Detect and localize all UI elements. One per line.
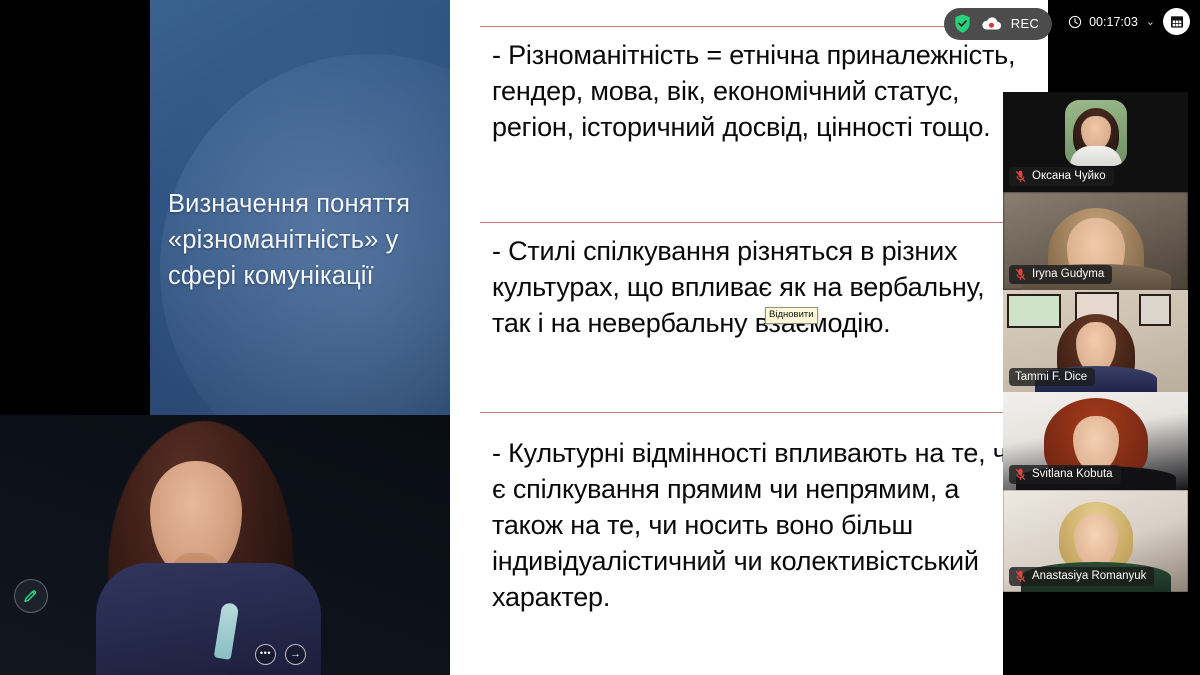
participant-name-badge: Tammi F. Dice [1009, 368, 1095, 386]
clock-icon [1068, 15, 1082, 29]
slide-more-button[interactable]: ••• [255, 644, 276, 665]
participant-name: Tammi F. Dice [1015, 371, 1087, 383]
participant-tile[interactable]: Оксана Чуйко [1003, 92, 1188, 192]
layout-panel-button[interactable] [1163, 8, 1190, 35]
participant-name-badge: Оксана Чуйко [1009, 167, 1114, 186]
mic-muted-icon [1015, 268, 1026, 281]
document-text-pane: - Різноманітність = етнічна приналежніст… [450, 0, 1048, 675]
shield-check-icon [953, 13, 972, 34]
participant-name-badge: Svitlana Kobuta [1009, 465, 1121, 484]
participant-name: Iryna Gudyma [1032, 268, 1104, 280]
slide-next-button[interactable]: → [285, 644, 306, 665]
shared-screen-area: Визначення поняття «різноманітність» у с… [0, 0, 1048, 675]
rec-label: REC [1011, 16, 1039, 31]
annotate-button[interactable] [14, 579, 48, 613]
participant-tile-active-speaker[interactable]: Tammi F. Dice [1003, 290, 1188, 392]
chevron-down-icon[interactable]: ⌄ [1146, 15, 1155, 28]
recording-timer[interactable]: 00:17:03 [1068, 15, 1138, 29]
mic-muted-icon [1015, 170, 1026, 183]
participant-name: Svitlana Kobuta [1032, 468, 1113, 480]
participant-name-badge: Anastasiya Romanyuk [1009, 567, 1154, 586]
participant-name: Anastasiya Romanyuk [1032, 570, 1146, 582]
divider-3 [480, 412, 1028, 413]
more-dots-icon: ••• [260, 649, 271, 658]
filmstrip-bottom-fill [1003, 592, 1200, 675]
slide-navigation: ••• → [255, 644, 306, 665]
cloud-record-icon [981, 16, 1002, 31]
slide-title-panel: Визначення поняття «різноманітність» у с… [150, 0, 450, 675]
participant-name: Оксана Чуйко [1032, 170, 1106, 182]
slide-title: Визначення поняття «різноманітність» у с… [168, 186, 450, 295]
participant-name-badge: Iryna Gudyma [1009, 265, 1112, 284]
timer-value: 00:17:03 [1089, 15, 1138, 29]
pen-icon [22, 587, 40, 605]
paragraph-3: - Культурні відмінності впливають на те,… [492, 436, 1026, 616]
recording-timer-group: 00:17:03 ⌄ [1052, 0, 1200, 43]
participant-filmstrip: Оксана Чуйко Iryna Gudyma [1003, 92, 1188, 592]
participant-tile[interactable]: Iryna Gudyma [1003, 192, 1188, 290]
paragraph-1: - Різноманітність = етнічна приналежніст… [492, 38, 1026, 146]
restore-tooltip: Відновити [765, 307, 818, 324]
recording-status-pill[interactable]: REC [944, 8, 1052, 40]
meeting-screen-share-view: Визначення поняття «різноманітність» у с… [0, 0, 1200, 675]
arrow-right-icon: → [290, 649, 301, 660]
recording-toolbar: REC 00:17:03 ⌄ [944, 0, 1200, 43]
participant-tile[interactable]: Anastasiya Romanyuk [1003, 490, 1188, 592]
avatar [1065, 100, 1127, 166]
participant-tile[interactable]: Svitlana Kobuta [1003, 392, 1188, 490]
layout-panel-icon [1169, 14, 1185, 30]
mic-muted-icon [1015, 570, 1026, 583]
paragraph-2: - Стилі спілкування різняться в різних к… [492, 234, 1026, 342]
divider-2 [480, 222, 1028, 223]
mic-muted-icon [1015, 468, 1026, 481]
